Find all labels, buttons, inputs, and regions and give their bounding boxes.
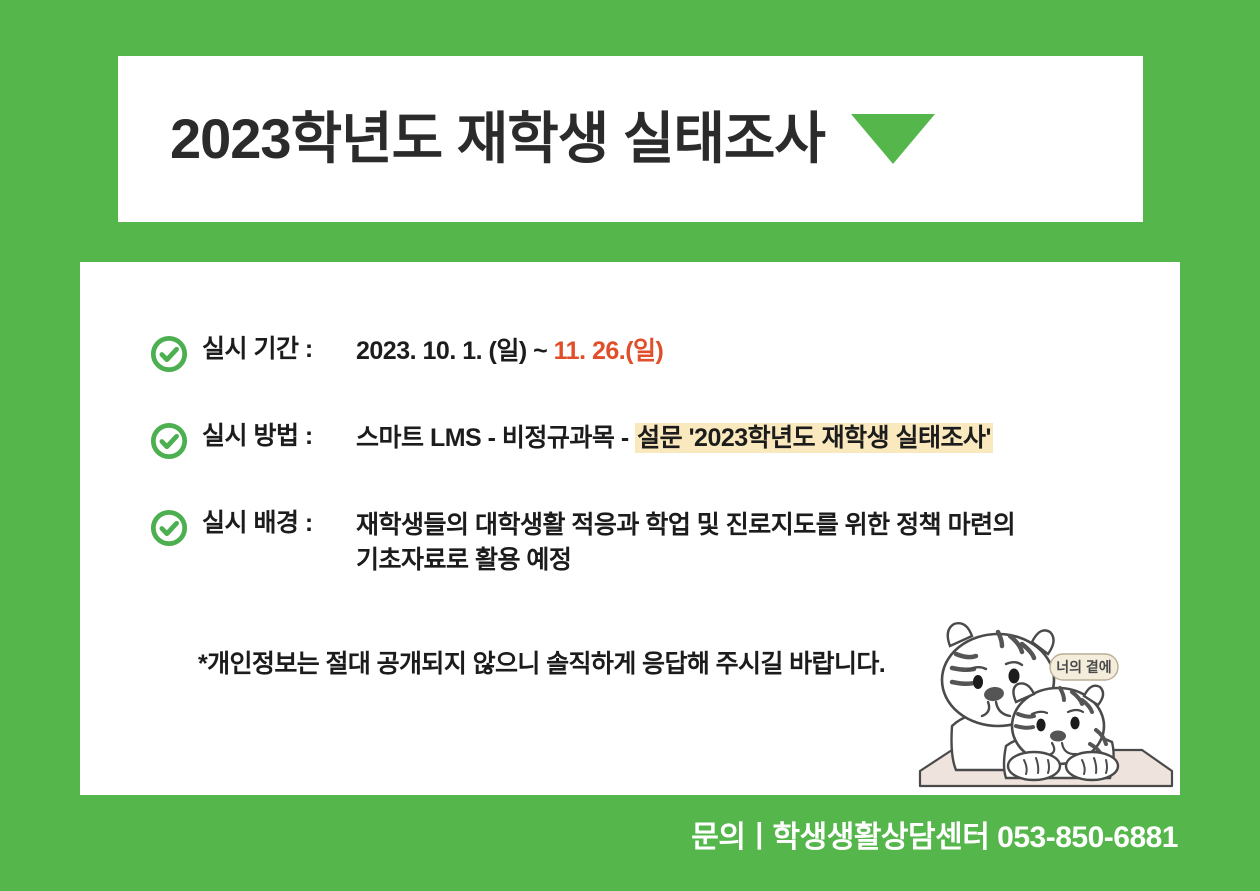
title-card: 2023학년도 재학생 실태조사 (118, 56, 1143, 222)
list-item: 실시 기간 : 2023. 10. 1. (일) ~ 11. 26.(일) (150, 334, 1160, 373)
bullet-label-method: 실시 방법 : (202, 421, 334, 452)
main-content-card: 실시 기간 : 2023. 10. 1. (일) ~ 11. 26.(일) 실시… (80, 262, 1180, 795)
background-line-2: 기초자료로 활용 예정 (356, 543, 1015, 578)
bullet-label-period: 실시 기간 : (202, 334, 334, 365)
privacy-note: *개인정보는 절대 공개되지 않으니 솔직하게 응답해 주시길 바랍니다. (198, 644, 885, 680)
footer-contact: 문의ㅣ학생생활상담센터 053-850-6881 (691, 812, 1178, 856)
mascot-slogan: 너의 곁에 (1056, 659, 1111, 675)
list-item: 실시 배경 : 재학생들의 대학생활 적응과 학업 및 진로지도를 위한 정책 … (150, 508, 1160, 577)
bullet-value-method: 스마트 LMS - 비정규과목 - 설문 '2023학년도 재학생 실태조사' (334, 421, 993, 456)
chevron-down-triangle-icon (851, 114, 935, 164)
background-line-1: 재학생들의 대학생활 적응과 학업 및 진로지도를 위한 정책 마련의 (356, 508, 1015, 543)
bullet-value-background: 재학생들의 대학생활 적응과 학업 및 진로지도를 위한 정책 마련의 기초자료… (334, 508, 1015, 577)
check-circle-icon (150, 509, 188, 547)
page-title: 2023학년도 재학생 실태조사 (170, 111, 825, 167)
bullet-value-period: 2023. 10. 1. (일) ~ 11. 26.(일) (334, 334, 663, 369)
bullet-label-background: 실시 배경 : (202, 508, 334, 539)
check-circle-icon (150, 422, 188, 460)
method-highlight-text: 설문 '2023학년도 재학생 실태조사' (635, 423, 993, 453)
info-bullet-list: 실시 기간 : 2023. 10. 1. (일) ~ 11. 26.(일) 실시… (150, 334, 1160, 577)
period-plain-text: 2023. 10. 1. (일) ~ (356, 337, 554, 365)
check-circle-icon (150, 335, 188, 373)
method-plain-text: 스마트 LMS - 비정규과목 - (356, 424, 635, 452)
tiger-mascot: 너의 곁에 (910, 614, 1180, 795)
poster-root: { "poster": { "background_color": "#55b7… (0, 0, 1260, 891)
period-accent-text: 11. 26.(일) (554, 337, 664, 365)
list-item: 실시 방법 : 스마트 LMS - 비정규과목 - 설문 '2023학년도 재학… (150, 421, 1160, 460)
